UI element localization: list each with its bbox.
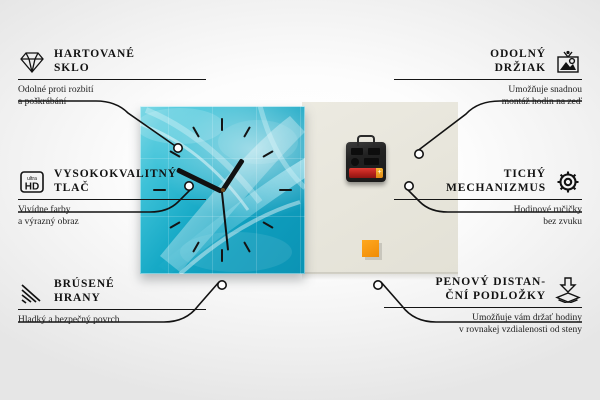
feature-tempered-glass: HARTOVANÉSKLO Odolné proti rozbitía pošk… — [18, 48, 206, 108]
feature-foam-spacers: PENOVÝ DISTAN-ČNÍ PODLOŽKY Umožňuje vám … — [384, 276, 582, 336]
aa-battery: + — [349, 168, 383, 178]
clock-center-pin — [221, 188, 225, 192]
wire-dot-edges — [218, 281, 226, 289]
picture-hanger-icon — [554, 49, 582, 75]
feature-title: ODOLNÝDRŽIAK — [490, 48, 546, 75]
feature-title: TICHÝMECHANIZMUS — [446, 168, 546, 195]
gear-icon — [554, 169, 582, 195]
svg-text:HD: HD — [25, 181, 39, 192]
feature-title: HARTOVANÉSKLO — [54, 48, 135, 75]
movement-hanger — [357, 135, 375, 146]
feature-ground-edges: BRÚSENÉHRANY Hladký a bezpečný povrch — [18, 278, 206, 326]
wire-dot-foam — [374, 281, 382, 289]
divider — [18, 199, 206, 200]
feature-title: PENOVÝ DISTAN-ČNÍ PODLOŽKY — [436, 276, 546, 303]
foam-spacer-icon — [554, 277, 582, 303]
divider — [18, 309, 206, 310]
foam-spacer-pad — [362, 240, 379, 257]
divider — [384, 307, 582, 308]
clock-tick — [221, 249, 223, 262]
ground-edges-icon — [18, 279, 46, 305]
battery-plus-sign: + — [377, 169, 382, 177]
feature-description: Hodinové ručičkybez zvuku — [394, 204, 582, 228]
feature-title: VYSOKOKVALITNÝTLAČ — [54, 168, 177, 195]
clock-tick — [279, 189, 292, 191]
infographic-canvas: + — [0, 0, 600, 400]
clock-tick — [221, 118, 223, 131]
feature-description: Vivídne farbya výrazný obraz — [18, 204, 206, 228]
diamond-icon — [18, 49, 46, 75]
feature-title: BRÚSENÉHRANY — [54, 278, 115, 305]
feature-high-quality-print: ultra HD VYSOKOKVALITNÝTLAČ Vivídne farb… — [18, 168, 206, 228]
divider — [394, 79, 582, 80]
feature-silent-mechanism: TICHÝMECHANIZMUS Hodinové ručičkybez zvu… — [394, 168, 582, 228]
divider — [394, 199, 582, 200]
feature-description: Umožňuje vám držať hodinyv rovnakej vzdi… — [384, 312, 582, 336]
ultra-hd-icon: ultra HD — [18, 169, 46, 195]
feature-durable-holder: ODOLNÝDRŽIAK Umožňuje snadnoumontáž hodi… — [394, 48, 582, 108]
clock-movement: + — [346, 142, 386, 182]
feature-description: Umožňuje snadnoumontáž hodin na zeď — [394, 84, 582, 108]
feature-description: Hladký a bezpečný povrch — [18, 314, 206, 326]
feature-description: Odolné proti rozbitía poškrábání — [18, 84, 206, 108]
divider — [18, 79, 206, 80]
